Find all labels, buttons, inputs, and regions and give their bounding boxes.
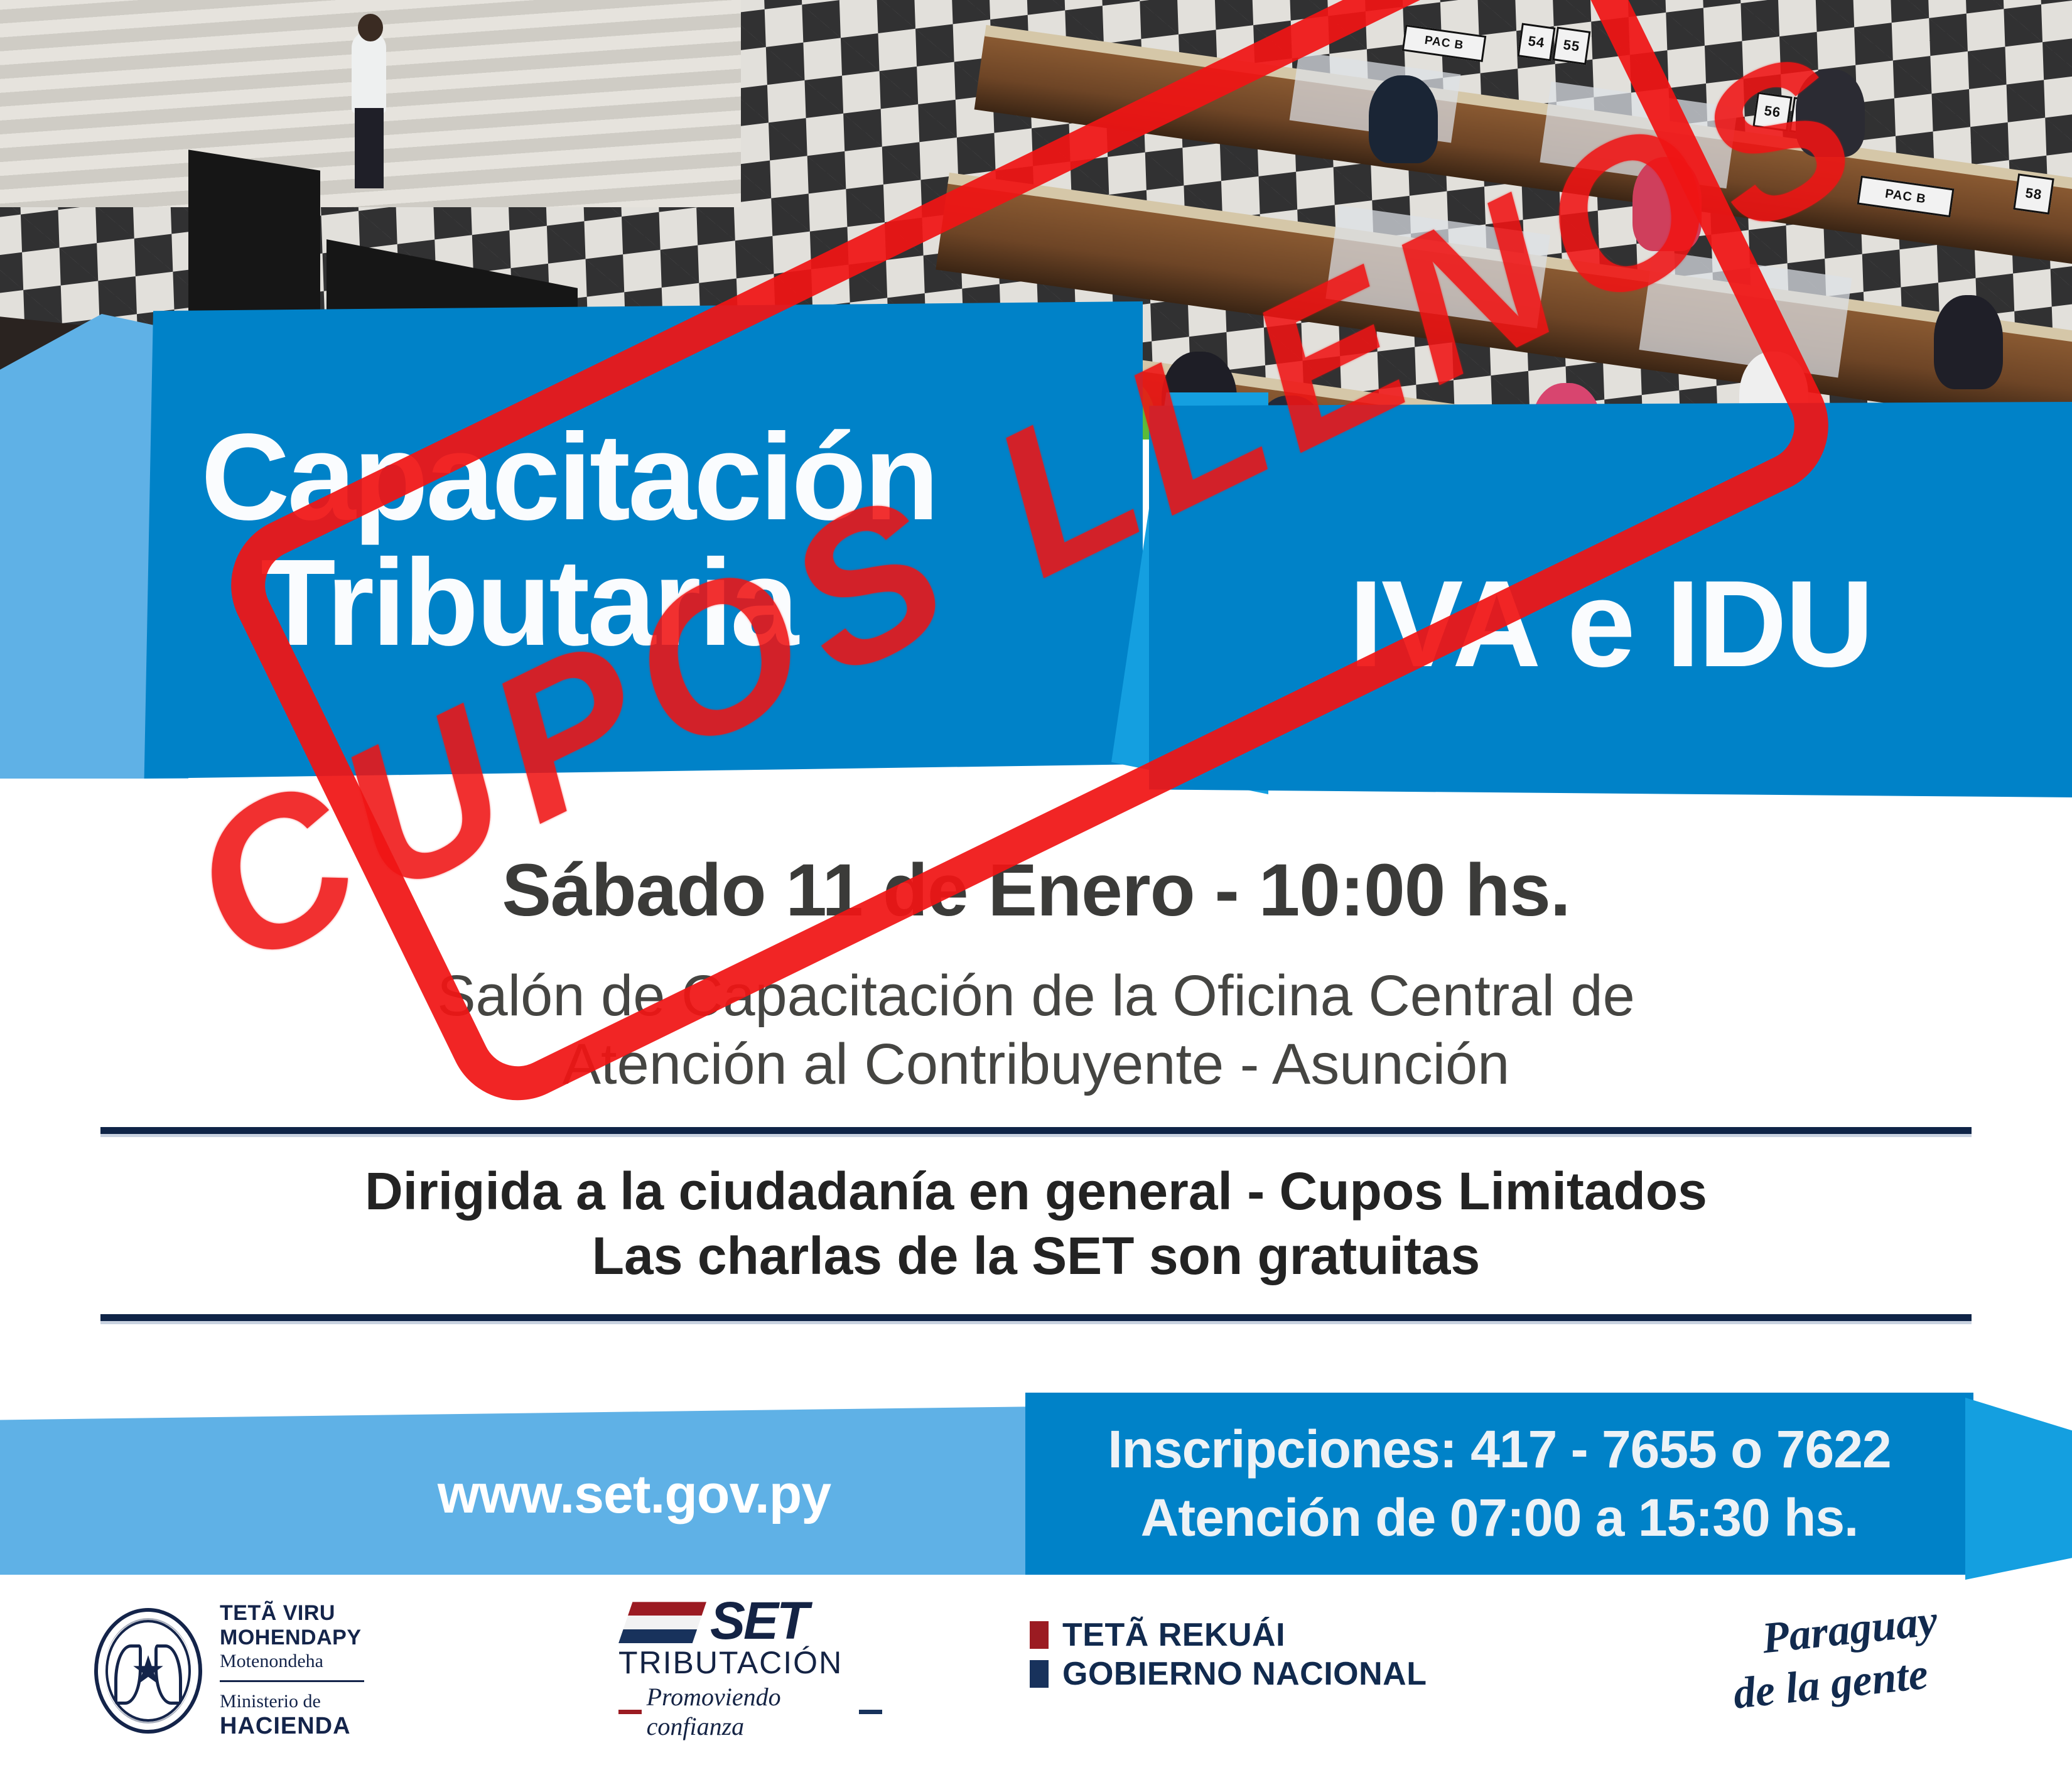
set-slogan-row: Promoviendo confianza (618, 1682, 882, 1741)
venue-line-2: Atención al Contribuyente - Asunción (0, 1030, 2072, 1099)
gobierno-blue-square-icon (1030, 1660, 1049, 1688)
flag-stripe-white (618, 1616, 706, 1629)
event-date-time: Sábado 11 de Enero - 10:00 hs. (0, 848, 2072, 933)
flag-stripe-red (618, 1602, 706, 1616)
set-name: TRIBUTACIÓN (618, 1644, 882, 1681)
title-banner: Capacitación Tributaria IVA e IDU (0, 301, 2072, 810)
audience-figure (1632, 157, 1702, 251)
gobierno-row-1: TETÃ REKUÁI (1030, 1619, 1427, 1651)
counter-sign-54: 54 (1518, 23, 1556, 62)
paraguay-seal-icon: ★ (94, 1608, 202, 1734)
topic-label: IVA e IDU (1349, 553, 1872, 694)
logo-paraguay-de-la-gente: Paraguay de la gente (1733, 1605, 1938, 1709)
divider-bottom (100, 1314, 1972, 1321)
hacienda-divider (220, 1680, 364, 1682)
contact-bar: www.set.gov.py Inscripciones: 417 - 7655… (0, 1393, 2072, 1587)
hacienda-line-4: Ministerio de (220, 1691, 364, 1713)
counter-sign-55: 55 (1553, 27, 1591, 65)
set-slogan-text: Promoviendo confianza (647, 1682, 855, 1741)
set-acronym: SET (710, 1599, 807, 1643)
audience-line-1: Dirigida a la ciudadanía en general - Cu… (0, 1159, 2072, 1223)
counter-sign-58: 58 (2013, 173, 2054, 215)
divider-top (100, 1127, 1972, 1134)
event-details: Sábado 11 de Enero - 10:00 hs. Salón de … (0, 835, 2072, 1356)
logo-set-tributacion: SET TRIBUTACIÓN Promoviendo confianza (618, 1599, 882, 1741)
logo-ministerio-hacienda: ★ TETÃ VIRU MOHENDAPY Motenondeha Minist… (94, 1601, 364, 1740)
set-top-row: SET (618, 1599, 882, 1643)
registration-phones: Inscripciones: 417 - 7655 o 7622 (1108, 1415, 1891, 1484)
venue-line-1: Salón de Capacitación de la Oficina Cent… (0, 962, 2072, 1030)
gobierno-line-2: GOBIERNO NACIONAL (1062, 1658, 1427, 1690)
speaker-head (358, 14, 383, 41)
footer-logos: ★ TETÃ VIRU MOHENDAPY Motenondeha Minist… (0, 1587, 2072, 1770)
contact-accent-wedge (1965, 1398, 2072, 1580)
title-line-1: Capacitación (201, 414, 1143, 540)
flyer-root: 54 55 56 57 58 PAC B PAC B Capacitación … (0, 0, 2072, 1770)
audience-line-2: Las charlas de la SET son gratuitas (0, 1224, 2072, 1288)
title-panel-main: Capacitación Tributaria (138, 301, 1143, 779)
audience-note: Dirigida a la ciudadanía en general - Cu… (0, 1159, 2072, 1288)
hacienda-wordmark: TETÃ VIRU MOHENDAPY Motenondeha Minister… (220, 1601, 364, 1740)
website-link[interactable]: www.set.gov.py (438, 1464, 831, 1526)
speaker-legs (355, 108, 384, 188)
audience-figure (1796, 69, 1865, 157)
gobierno-line-1: TETÃ REKUÁI (1062, 1619, 1285, 1651)
topic-panel: IVA e IDU (1149, 402, 2072, 797)
speaker-torso (352, 31, 386, 113)
audience-figure (1369, 75, 1438, 163)
hacienda-line-3: Motenondeha (220, 1651, 364, 1673)
counter-sign-56: 56 (1752, 92, 1792, 131)
gobierno-red-square-icon (1030, 1621, 1049, 1649)
website-panel: www.set.gov.py (0, 1406, 1042, 1575)
attention-hours: Atención de 07:00 a 15:30 hs. (1141, 1484, 1859, 1552)
hacienda-line-5: HACIENDA (220, 1712, 364, 1740)
hacienda-line-2: MOHENDAPY (220, 1626, 364, 1650)
hacienda-line-1: TETÃ VIRU (220, 1601, 364, 1626)
registration-panel: Inscripciones: 417 - 7655 o 7622 Atenció… (1025, 1393, 1973, 1575)
title-line-2: Tributaria (201, 540, 1143, 666)
logo-gobierno-nacional: TETÃ REKUÁI GOBIERNO NACIONAL (1030, 1619, 1427, 1690)
event-venue: Salón de Capacitación de la Oficina Cent… (0, 962, 2072, 1098)
flag-stripe-blue (618, 1629, 706, 1643)
paraguay-line-2: de la gente (1731, 1648, 1940, 1720)
paraguay-flag-icon (618, 1602, 706, 1643)
gobierno-row-2: GOBIERNO NACIONAL (1030, 1658, 1427, 1690)
slogan-dash-right (859, 1710, 882, 1714)
slogan-dash-left (618, 1710, 642, 1714)
